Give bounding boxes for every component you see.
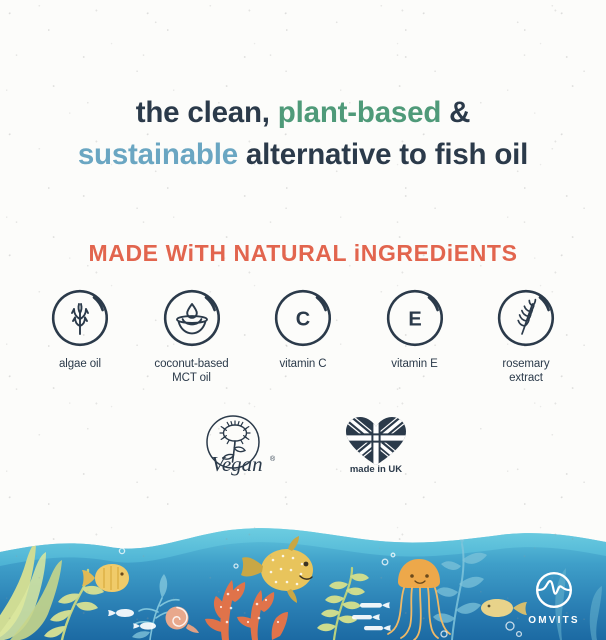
section-subtitle: MADE WiTH NATURAL iNGREDiENTS (0, 240, 606, 267)
coconut-bowl-icon (162, 288, 222, 348)
headline-text-b: & (441, 96, 470, 129)
ingredient-item-rosemary-extract: rosemaryextract (474, 288, 578, 385)
vegan-society-icon: Vegan ® (193, 412, 285, 478)
letter-e-icon: E (385, 288, 445, 348)
headline-text-c: alternative to fish oil (238, 138, 528, 171)
brand-logo[interactable]: OMVITS (518, 570, 590, 626)
ingredient-label: coconut-basedMCT oil (140, 358, 244, 385)
ingredient-label: rosemaryextract (474, 358, 578, 385)
ingredient-item-coconut-mct-oil: coconut-basedMCT oil (140, 288, 244, 385)
ingredient-label: vitamin E (363, 358, 467, 372)
headline-highlight-sustainable: sustainable (78, 138, 238, 171)
registered-trademark: ® (270, 455, 276, 463)
ingredients-row: algae oil coconut-basedMCT oil C vitamin (28, 288, 578, 385)
headline-line-1: the clean, plant-based & (0, 92, 606, 134)
ingredient-item-vitamin-e: E vitamin E (363, 288, 467, 372)
vitamin-letter: E (408, 309, 421, 331)
certification-badges: Vegan ® (0, 412, 606, 483)
underwater-illustration (0, 522, 606, 640)
letter-c-icon: C (273, 288, 333, 348)
badge-vegan-society: Vegan ® (193, 412, 285, 483)
poster-canvas: the clean, plant-based & sustainable alt… (0, 0, 606, 640)
algae-icon (50, 288, 110, 348)
ingredient-label: algae oil (28, 358, 132, 372)
headline-highlight-plant-based: plant-based (278, 96, 441, 129)
ingredient-label: vitamin C (251, 358, 355, 372)
page-title: the clean, plant-based & sustainable alt… (0, 92, 606, 176)
rosemary-icon (496, 288, 556, 348)
omvits-wave-icon (534, 570, 574, 610)
headline-line-2: sustainable alternative to fish oil (0, 134, 606, 176)
brand-wordmark: OMVITS (518, 615, 590, 626)
union-jack-heart-icon: made in UK (339, 412, 413, 474)
vegan-wordmark: Vegan (211, 452, 262, 476)
ingredient-item-vitamin-c: C vitamin C (251, 288, 355, 372)
badge-made-in-uk: made in UK (339, 412, 413, 479)
headline-text-a: the clean, (136, 96, 278, 129)
vitamin-letter: C (296, 309, 310, 331)
made-in-uk-caption: made in UK (350, 464, 402, 474)
ingredient-item-algae-oil: algae oil (28, 288, 132, 372)
